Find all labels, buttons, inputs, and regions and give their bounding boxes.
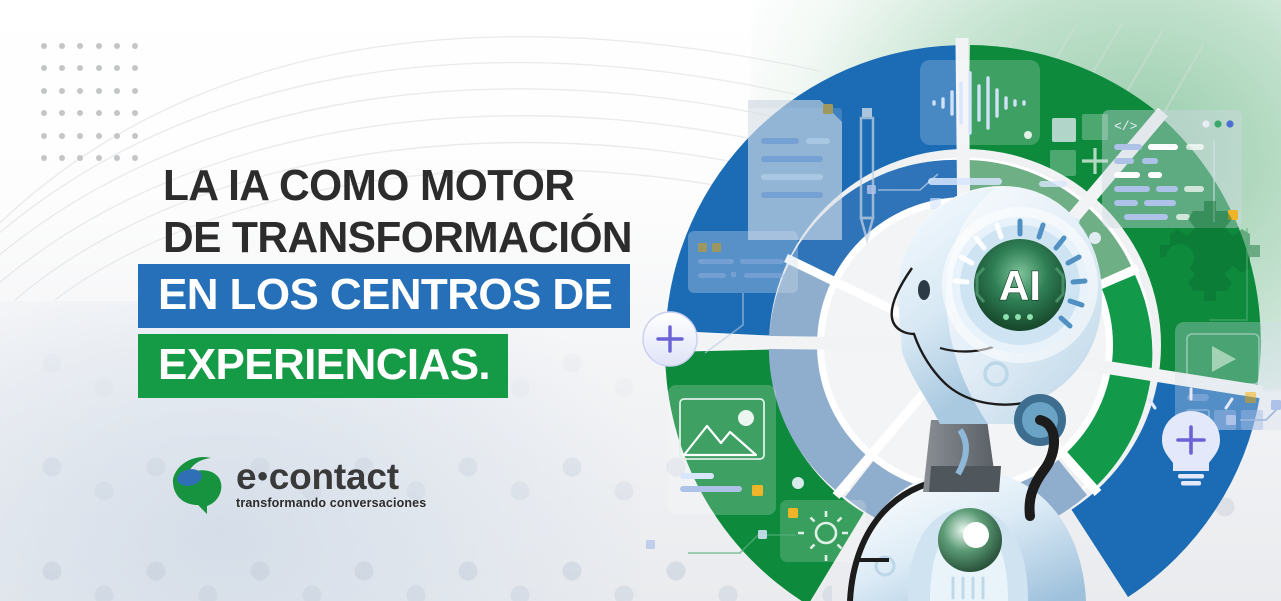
logo-word-line: e•contact [236, 457, 426, 497]
analytics-node-square-2 [646, 540, 655, 549]
window-dots-icon [1202, 120, 1233, 127]
code-window-icon: </> [1102, 110, 1242, 228]
analytics-dot-node [792, 477, 804, 489]
plus-node-left[interactable] [643, 312, 697, 366]
logo-tagline: transformando conversaciones [236, 496, 426, 510]
dot-grid-decoration [41, 43, 150, 177]
headline-block: LA IA COMO MOTOR DE TRANSFORMACIÓN EN LO… [163, 160, 703, 398]
gear-card-icon [780, 500, 866, 562]
headline-line-3: EN LOS CENTROS DE [138, 264, 630, 328]
headline-band-blue-row: EN LOS CENTROS DE [138, 264, 703, 328]
e-contact-swoosh-icon [167, 452, 224, 514]
headline-line-1: LA IA COMO MOTOR [163, 160, 684, 212]
ai-wheel-illustration: </> [640, 0, 1281, 601]
ai-core-label: AI [999, 262, 1041, 309]
logo-word-e: e [236, 456, 256, 497]
code-glyph-label: </> [1114, 119, 1138, 134]
headline-line-2: DE TRANSFORMACIÓN [163, 212, 684, 264]
analytics-node-square [758, 530, 767, 539]
green-divider-bar [1039, 181, 1067, 187]
waveform-icon [920, 60, 1040, 145]
logo-word-contact: contact [269, 456, 399, 497]
logo-separator-dot: • [256, 460, 268, 493]
brand-logo[interactable]: e•contact transformando conversaciones [167, 452, 426, 514]
document-icon [748, 100, 842, 240]
green-dot-node [1089, 232, 1101, 244]
headline-band-green-row: EXPERIENCIAS. [138, 328, 703, 398]
ai-core: AI [942, 207, 1098, 363]
headline-line-4: EXPERIENCIAS. [138, 334, 508, 398]
banner-root: LA IA COMO MOTOR DE TRANSFORMACIÓN EN LO… [0, 0, 1281, 601]
ai-wheel-svg: </> [640, 0, 1281, 601]
image-card-icon [668, 385, 776, 515]
logo-wordmark: e•contact transformando conversaciones [236, 457, 426, 510]
